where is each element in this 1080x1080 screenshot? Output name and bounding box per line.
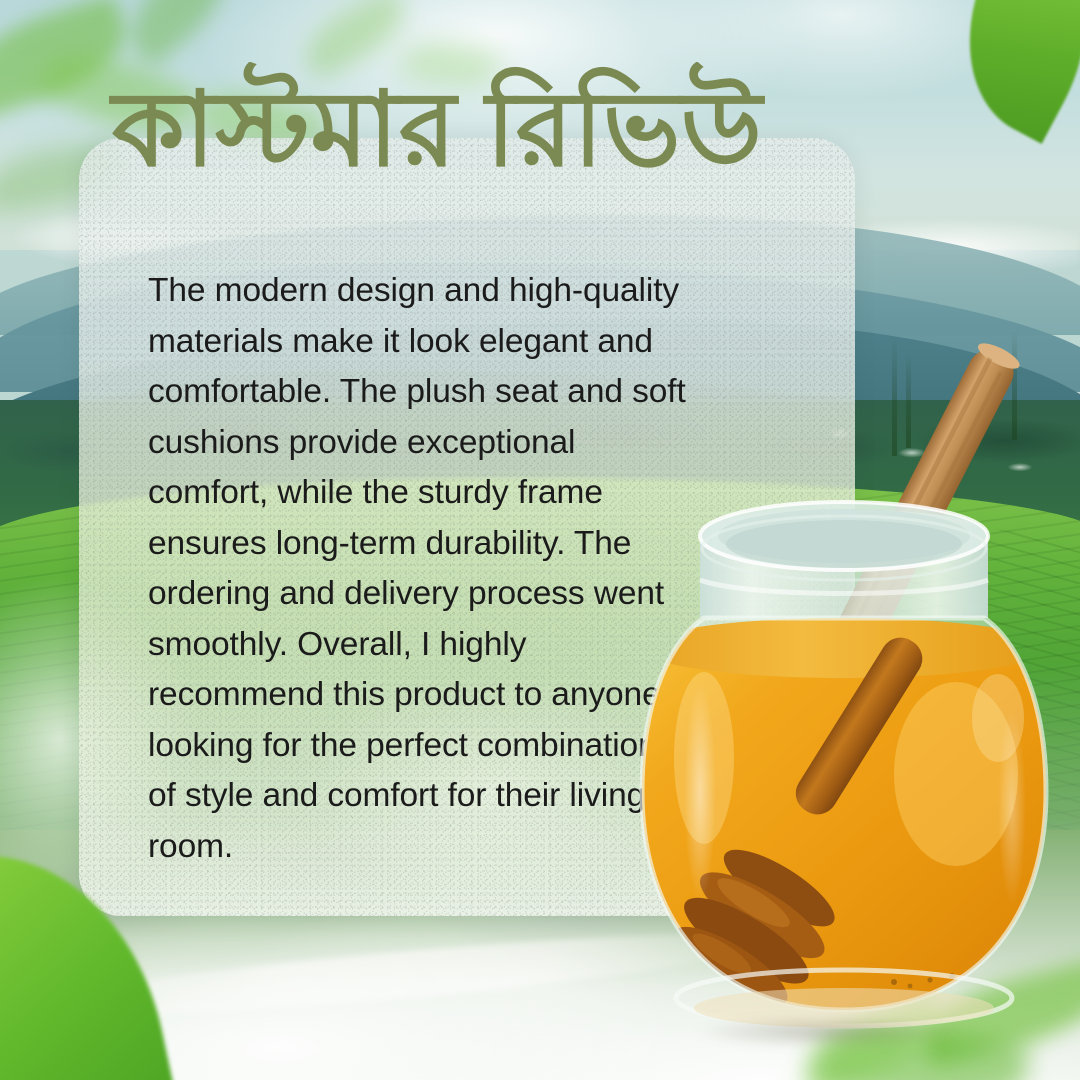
honey-jar-illustration xyxy=(608,322,1080,1062)
social-post-canvas: The modern design and high-quality mater… xyxy=(0,0,1080,1080)
honey-jar xyxy=(608,322,1080,1062)
review-body-text: The modern design and high-quality mater… xyxy=(148,266,688,872)
jar-shadow xyxy=(642,1010,1012,1054)
page-title: কাস্টমার রিভিউ xyxy=(112,78,852,182)
jar-rim xyxy=(700,502,988,618)
